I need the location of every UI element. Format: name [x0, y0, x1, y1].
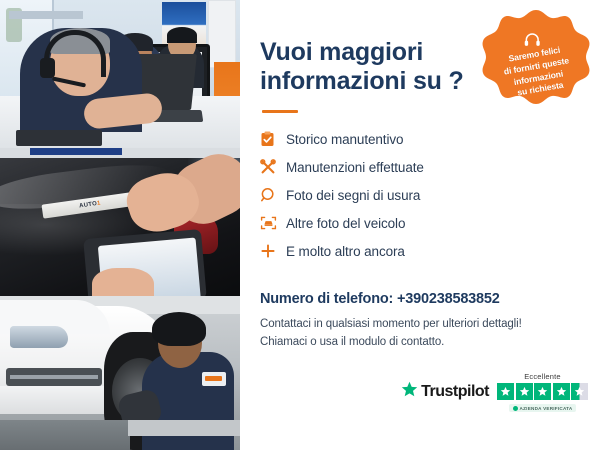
- heading-line-1: Vuoi maggiori: [260, 38, 423, 66]
- wall-poster-secondary: [208, 0, 236, 68]
- feature-list: Storico manutentivo Manutenzioni effettu…: [260, 125, 578, 265]
- photo-vehicle-inspection: AUTO1: [0, 148, 240, 296]
- list-item: E molto altro ancora: [260, 237, 578, 265]
- blue-strip: [30, 148, 122, 155]
- phone-label: Numero di telefono:: [260, 291, 393, 307]
- contact-instructions: Contattaci in qualsiasi momento per ulte…: [260, 316, 578, 352]
- feature-label: Altre foto del veicolo: [286, 216, 405, 231]
- contact-line-2: Chiamaci o usa il modulo di contatto.: [260, 334, 578, 352]
- verified-check-icon: [513, 406, 518, 411]
- star-half: [571, 383, 588, 400]
- feature-label: Foto dei segni di usura: [286, 188, 420, 203]
- badge-starburst-shape: [480, 8, 592, 120]
- star-filled: [553, 383, 570, 400]
- monitor-screen-bar: [9, 11, 83, 19]
- car-grille: [6, 368, 102, 386]
- workshop-bench: [128, 420, 240, 436]
- list-item: Altre foto del veicolo: [260, 209, 578, 237]
- mechanic-uniform-badge: [202, 372, 226, 386]
- photo-wheel-service: [0, 296, 240, 450]
- vehicle-frame-icon: [260, 215, 286, 231]
- clipboard-check-icon: [260, 131, 286, 147]
- trustpilot-rating: Eccellente: [497, 372, 588, 412]
- feature-label: Storico manutentivo: [286, 132, 403, 147]
- keyboard: [16, 130, 102, 146]
- promo-banner: AUTO1 Vuoi maggiori: [0, 0, 600, 450]
- trustpilot-widget[interactable]: Trustpilot Eccellente: [401, 372, 588, 412]
- photo-collage: AUTO1: [0, 0, 240, 450]
- heading-line-2: informazioni su ?: [260, 67, 464, 95]
- crossed-tools-icon: [260, 159, 286, 175]
- trustpilot-star-icon: [401, 381, 418, 403]
- contact-line-1: Contattaci in qualsiasi momento per ulte…: [260, 316, 578, 334]
- car-lift-platform: [0, 420, 130, 450]
- content-panel: Vuoi maggiori informazioni su ? Storico …: [240, 0, 600, 450]
- inspector-hand-holding-tablet: [92, 268, 154, 296]
- star-filled: [534, 383, 551, 400]
- list-item: Storico manutentivo: [260, 125, 578, 153]
- verified-badge: AZIENDA VERIFICATA: [509, 404, 577, 412]
- mechanic-hair: [152, 312, 206, 346]
- star-filled: [497, 383, 514, 400]
- trustpilot-logo: Trustpilot: [401, 381, 489, 403]
- feature-label: E molto altro ancora: [286, 244, 405, 259]
- magnifier-icon: [260, 187, 286, 203]
- agent-three-hair: [167, 27, 197, 43]
- plus-icon: [260, 243, 286, 259]
- title-divider: [262, 110, 298, 113]
- phone-number-line: Numero di telefono: +390238583852: [260, 291, 578, 307]
- star-rating: [497, 383, 588, 400]
- verified-label: AZIENDA VERIFICATA: [520, 406, 573, 411]
- page-title: Vuoi maggiori informazioni su ?: [260, 38, 475, 96]
- car-headlight: [10, 326, 68, 348]
- agent-one-headset-earcup: [40, 58, 55, 78]
- photo-call-center: [0, 0, 240, 148]
- phone-number[interactable]: +390238583852: [397, 291, 500, 307]
- trustpilot-wordmark: Trustpilot: [421, 383, 489, 401]
- star-filled: [516, 383, 533, 400]
- list-item: Foto dei segni di usura: [260, 181, 578, 209]
- list-item: Manutenzioni effettuate: [260, 153, 578, 181]
- feature-label: Manutenzioni effettuate: [286, 160, 424, 175]
- callout-badge: Saremo felici di fornirti queste informa…: [480, 8, 592, 120]
- rating-label: Eccellente: [524, 372, 561, 381]
